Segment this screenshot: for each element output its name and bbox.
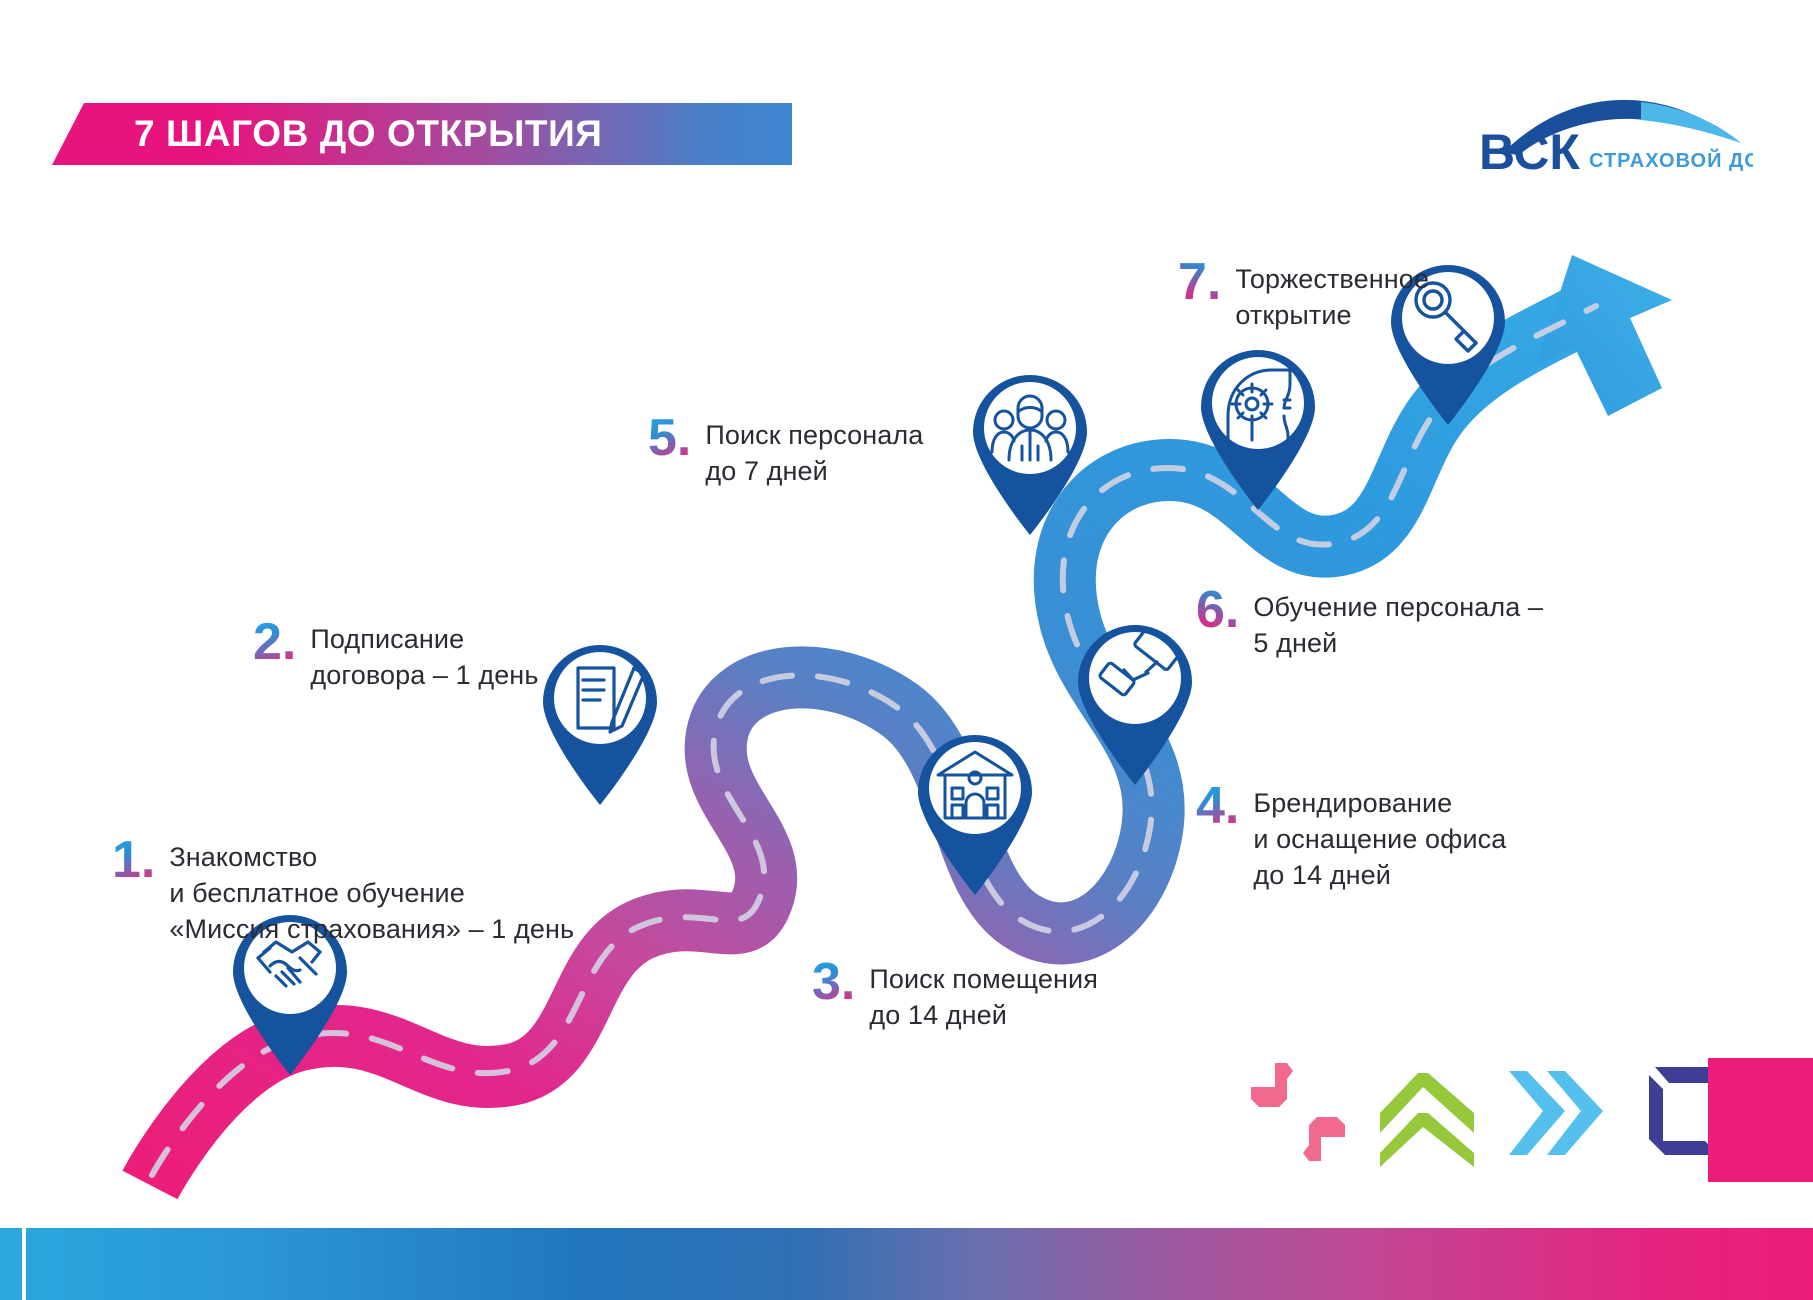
step-number-5: 5. [648,414,691,463]
step-label-2: 2. Подписание договора – 1 день [253,622,539,694]
step-number-2: 2. [253,618,296,667]
double-chevron-right-icon [1499,1057,1609,1172]
step-label-4: 4. Брендирование и оснащение офиса до 14… [1196,786,1506,894]
double-chevron-up-icon [1372,1057,1482,1172]
step-number-7: 7. [1178,258,1221,307]
step-number-1: 1. [112,836,155,885]
pinwheel-icon [1243,1057,1353,1172]
step-text-3: Поиск помещения до 14 дней [869,962,1098,1034]
step-text-4: Брендирование и оснащение офиса до 14 дн… [1253,786,1506,894]
step-label-7: 7. Торжественное открытие [1178,262,1429,334]
pink-block [1708,1058,1813,1182]
step-text-6: Обучение персонала – 5 дней [1253,590,1543,662]
map-pin-step-2[interactable] [543,645,657,805]
step-text-7: Торжественное открытие [1235,262,1429,334]
step-number-4: 4. [1196,782,1239,831]
step-label-6: 6. Обучение персонала – 5 дней [1196,590,1543,662]
step-label-3: 3. Поиск помещения до 14 дней [812,962,1098,1034]
step-text-2: Подписание договора – 1 день [310,622,538,694]
infographic-canvas: 7 ШАГОВ ДО ОТКРЫТИЯ ВСК СТРАХОВОЙ ДОМ [0,0,1813,1300]
step-text-1: Знакомство и бесплатное обучение «Миссия… [169,840,574,948]
bar-notch [22,1228,26,1300]
road-arrow-head [1536,255,1672,416]
step-number-3: 3. [812,958,855,1007]
step-label-5: 5. Поиск персонала до 7 дней [648,418,923,490]
step-number-6: 6. [1196,586,1239,635]
step-label-1: 1. Знакомство и бесплатное обучение «Мис… [112,840,574,948]
bottom-gradient-bar [0,1228,1813,1300]
step-text-5: Поиск персонала до 7 дней [705,418,923,490]
